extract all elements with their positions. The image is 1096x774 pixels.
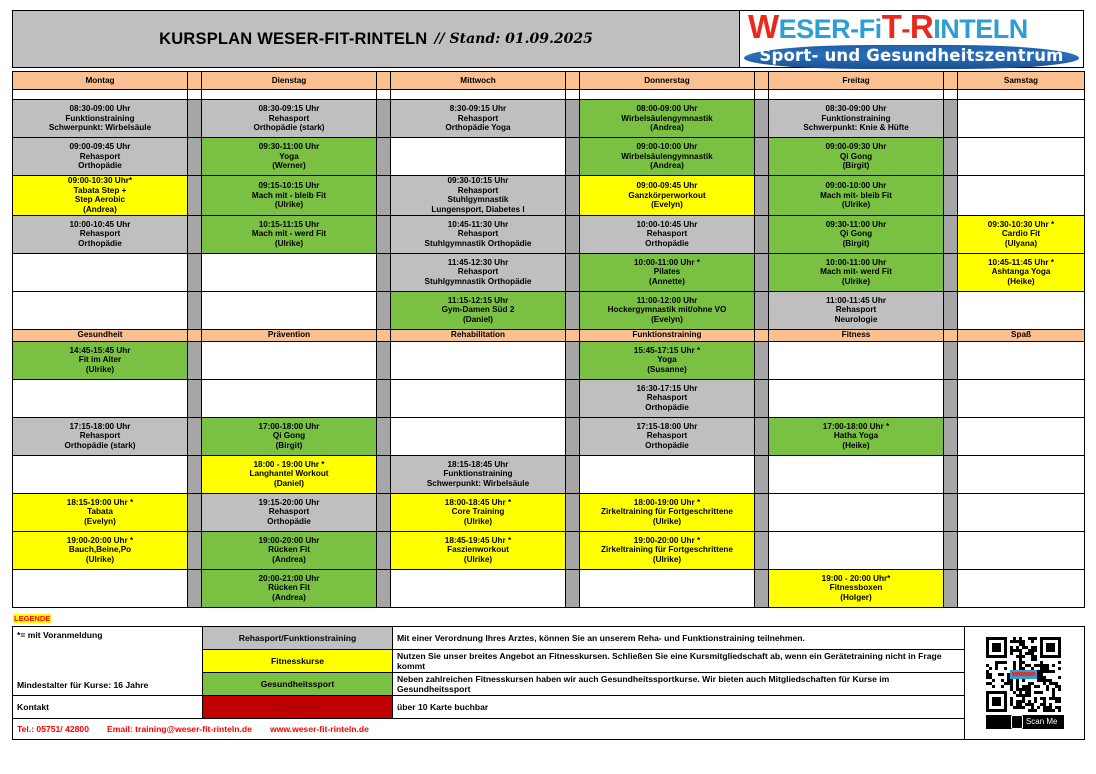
empty-cell (391, 569, 566, 607)
course-trainer: (Daniel) (391, 315, 565, 325)
course-name: Lungensport, Diabetes I (391, 205, 565, 215)
course-trainer: (Ulrike) (769, 277, 943, 287)
column-separator (944, 455, 958, 493)
course-trainer: (Evelyn) (580, 200, 754, 210)
contact-website[interactable]: www.weser-fit-rinteln.de (270, 724, 369, 734)
course-time: 09:00-10:30 Uhr* (13, 176, 187, 186)
column-separator (566, 215, 580, 253)
course-name: Qi Gong (202, 431, 376, 441)
course-cell[interactable]: 11:00-11:45 UhrRehasportNeurologie (769, 291, 944, 329)
qr-code-cell[interactable]: Scan Me (965, 626, 1085, 739)
course-trainer: (Birgit) (769, 161, 943, 171)
day-header-row: MontagDienstagMittwochDonnerstagFreitagS… (13, 72, 1085, 90)
logo-letter-w: W (748, 8, 779, 45)
course-name: Rehasport (769, 305, 943, 315)
course-cell[interactable]: 18:00-18:45 Uhr *Core Training(Ulrike) (391, 493, 566, 531)
course-time: 10:45-11:30 Uhr (391, 220, 565, 230)
course-trainer: (Susanne) (580, 365, 754, 375)
course-name: Bauch,Beine,Po (13, 545, 187, 555)
spacer-cell (769, 90, 944, 100)
course-trainer: (Heike) (769, 441, 943, 451)
logo-dash: - (901, 14, 910, 44)
course-cell[interactable]: 18:15-18:45 UhrFunktionstrainingSchwerpu… (391, 455, 566, 493)
course-cell[interactable]: 10:00-10:45 UhrRehasportOrthopädie (13, 215, 188, 253)
legend-table: *= mit VoranmeldungMindestalter für Kurs… (12, 626, 1085, 740)
column-separator (944, 329, 958, 341)
course-time: 18:00-19:00 Uhr * (580, 498, 754, 508)
schedule-row: 11:45-12:30 UhrRehasportStuhlgymnastik O… (13, 253, 1085, 291)
course-trainer: (Evelyn) (580, 315, 754, 325)
course-cell[interactable]: 11:45-12:30 UhrRehasportStuhlgymnastik O… (391, 253, 566, 291)
course-trainer: (Ulrike) (13, 555, 187, 565)
course-time: 19:15-20:00 Uhr (202, 498, 376, 508)
course-cell[interactable]: 08:30-09:15 UhrRehasportOrthopädie (star… (202, 100, 377, 138)
course-time: 20:00-21:00 Uhr (202, 574, 376, 584)
course-name: Rehasport (13, 152, 187, 162)
column-separator (566, 493, 580, 531)
course-cell[interactable]: 10:00-10:45 UhrRehasportOrthopädie (580, 215, 755, 253)
course-time: 16:30-17:15 Uhr (580, 384, 754, 394)
course-name: Pilates (580, 267, 754, 277)
empty-cell (580, 455, 755, 493)
schedule-row: 18:15-19:00 Uhr *Tabata(Evelyn)19:15-20:… (13, 493, 1085, 531)
category-label-rehabilitation: Rehabilitation (391, 329, 566, 341)
course-cell[interactable]: 8:30-09:15 UhrRehasportOrthopädie Yoga (391, 100, 566, 138)
course-cell[interactable]: 10:45-11:45 Uhr *Ashtanga Yoga(Heike) (958, 253, 1085, 291)
course-cell[interactable]: 18:00 - 19:00 Uhr *Langhantel Workout(Da… (202, 455, 377, 493)
course-name: Orthopädie (580, 441, 754, 451)
legend-swatch-red: Zusatzkurse (203, 695, 393, 718)
course-cell[interactable]: 09:15-10:15 UhrMach mit - bleib Fit(Ulri… (202, 176, 377, 216)
course-name: Tabata (13, 507, 187, 517)
course-trainer: (Heike) (958, 277, 1084, 287)
course-trainer: (Ulrike) (202, 239, 376, 249)
column-separator (566, 379, 580, 417)
schedule-row: 17:15-18:00 UhrRehasportOrthopädie (star… (13, 417, 1085, 455)
spacer-cell (202, 90, 377, 100)
schedule-row: 14:45-15:45 UhrFit im Alter(Ulrike)15:45… (13, 341, 1085, 379)
course-cell[interactable]: 17:00-18:00 UhrQi Gong(Birgit) (202, 417, 377, 455)
empty-cell (769, 379, 944, 417)
schedule-row: 19:00-20:00 Uhr *Bauch,Beine,Po(Ulrike)1… (13, 531, 1085, 569)
course-cell[interactable]: 17:00-18:00 Uhr *Hatha Yoga(Heike) (769, 417, 944, 455)
course-time: 18:15-19:00 Uhr * (13, 498, 187, 508)
course-trainer: (Ulrike) (580, 517, 754, 527)
course-name: Stuhlgymnastik Orthopädie (391, 239, 565, 249)
column-separator (944, 176, 958, 216)
column-separator (377, 100, 391, 138)
course-name: Stuhlgymnastik (391, 195, 565, 205)
course-time: 11:15-12:15 Uhr (391, 296, 565, 306)
course-name: Rücken Fit (202, 583, 376, 593)
legend-title: LEGENDE (13, 614, 51, 623)
course-cell[interactable]: 10:00-11:00 UhrMach mit- werd Fit(Ulrike… (769, 253, 944, 291)
course-cell[interactable]: 10:00-11:00 Uhr *Pilates(Annette) (580, 253, 755, 291)
course-cell[interactable]: 18:15-19:00 Uhr *Tabata(Evelyn) (13, 493, 188, 531)
course-name: Zirkeltraining für Fortgeschrittene (580, 507, 754, 517)
course-time: 8:30-09:15 Uhr (391, 104, 565, 114)
empty-cell (958, 531, 1085, 569)
course-name: Faszienworkout (391, 545, 565, 555)
day-header-mittwoch: Mittwoch (391, 72, 566, 90)
empty-cell (580, 569, 755, 607)
course-cell[interactable]: 09:30-10:15 UhrRehasportStuhlgymnastikLu… (391, 176, 566, 216)
course-time: 18:00-18:45 Uhr * (391, 498, 565, 508)
schedule-row: 11:15-12:15 UhrGym-Damen Süd 2(Daniel)11… (13, 291, 1085, 329)
contact-phone[interactable]: Tel.: 05751/ 42800 (17, 724, 89, 734)
empty-cell (13, 569, 188, 607)
course-time: 19:00-20:00 Uhr * (13, 536, 187, 546)
course-cell[interactable]: 18:45-19:45 Uhr *Faszienworkout(Ulrike) (391, 531, 566, 569)
logo-text-inteln: INTELN (933, 14, 1028, 44)
empty-cell (13, 291, 188, 329)
course-cell[interactable]: 15:45-17:15 Uhr *Yoga(Susanne) (580, 341, 755, 379)
course-cell[interactable]: 11:15-12:15 UhrGym-Damen Süd 2(Daniel) (391, 291, 566, 329)
course-cell[interactable]: 17:15-18:00 UhrRehasportOrthopädie (580, 417, 755, 455)
course-cell[interactable]: 14:45-15:45 UhrFit im Alter(Ulrike) (13, 341, 188, 379)
column-separator (566, 253, 580, 291)
course-name: Rehasport (391, 267, 565, 277)
course-time: 09:15-10:15 Uhr (202, 181, 376, 191)
course-name: Fitnessboxen (769, 583, 943, 593)
category-label-gesundheit: Gesundheit (13, 329, 188, 341)
column-separator (755, 138, 769, 176)
schedule-row: 10:00-10:45 UhrRehasportOrthopädie10:15-… (13, 215, 1085, 253)
course-cell[interactable]: 09:00-10:00 UhrMach mit- bleib Fit(Ulrik… (769, 176, 944, 216)
course-cell[interactable]: 20:00-21:00 UhrRücken Fit(Andrea) (202, 569, 377, 607)
column-separator (944, 253, 958, 291)
column-separator (944, 291, 958, 329)
course-cell[interactable]: 18:00-19:00 Uhr *Zirkeltraining für Fort… (580, 493, 755, 531)
course-time: 11:00-11:45 Uhr (769, 296, 943, 306)
column-separator (377, 253, 391, 291)
course-name: Hockergymnastik mit/ohne VO (580, 305, 754, 315)
column-separator (188, 455, 202, 493)
course-time: 18:15-18:45 Uhr (391, 460, 565, 470)
course-trainer: (Andrea) (202, 593, 376, 603)
column-separator (755, 379, 769, 417)
empty-cell (769, 493, 944, 531)
course-name: Schwerpunkt: Wirbelsäule (391, 479, 565, 489)
category-row: GesundheitPräventionRehabilitationFunkti… (13, 329, 1085, 341)
course-cell[interactable]: 08:00-09:00 UhrWirbelsäulengymnastik(And… (580, 100, 755, 138)
column-separator (755, 329, 769, 341)
page-title: KURSPLAN WESER-FIT-RINTELN (159, 30, 427, 49)
empty-cell (958, 291, 1085, 329)
column-separator (566, 569, 580, 607)
legend-notes-spacer (17, 640, 198, 680)
course-cell[interactable]: 11:00-12:00 UhrHockergymnastik mit/ohne … (580, 291, 755, 329)
course-time: 09:30-10:30 Uhr * (958, 220, 1084, 230)
course-name: Zirkeltraining für Fortgeschrittene (580, 545, 754, 555)
column-separator (377, 291, 391, 329)
legend-kontakt-label: Kontakt (13, 695, 203, 718)
column-separator (566, 455, 580, 493)
course-cell[interactable]: 17:15-18:00 UhrRehasportOrthopädie (star… (13, 417, 188, 455)
empty-cell (958, 100, 1085, 138)
course-time: 10:00-10:45 Uhr (580, 220, 754, 230)
column-separator (188, 569, 202, 607)
header-title-cell: KURSPLAN WESER-FIT-RINTELN // Stand: 01.… (13, 11, 740, 67)
column-separator (377, 455, 391, 493)
course-time: 15:45-17:15 Uhr * (580, 346, 754, 356)
legend-mindestalter-note: Mindestalter für Kurse: 16 Jahre (17, 680, 198, 690)
course-name: Ashtanga Yoga (958, 267, 1084, 277)
course-time: 09:00-10:00 Uhr (769, 181, 943, 191)
course-cell[interactable]: 09:30-11:00 UhrYoga(Werner) (202, 138, 377, 176)
column-separator (944, 215, 958, 253)
logo-letter-t: T (882, 8, 902, 45)
course-name: Wirbelsäulengymnastik (580, 114, 754, 124)
column-separator (566, 417, 580, 455)
course-time: 19:00-20:00 Uhr (202, 536, 376, 546)
course-name: Stuhlgymnastik Orthopädie (391, 277, 565, 287)
legend-title-wrap: LEGENDE (12, 608, 1084, 626)
course-name: Orthopädie (580, 403, 754, 413)
empty-cell (202, 253, 377, 291)
column-separator (188, 291, 202, 329)
course-name: Cardio Fit (958, 229, 1084, 239)
course-trainer: (Birgit) (769, 239, 943, 249)
column-separator (944, 379, 958, 417)
course-cell[interactable]: 19:00-20:00 Uhr *Bauch,Beine,Po(Ulrike) (13, 531, 188, 569)
column-separator (944, 531, 958, 569)
column-separator (188, 100, 202, 138)
course-name: Rehasport (13, 229, 187, 239)
legend-swatch-gray: Rehasport/Funktionstraining (203, 626, 393, 649)
schedule-row: 09:00-10:30 Uhr*Tabata Step +Step Aerobi… (13, 176, 1085, 216)
course-name: Orthopädie (13, 161, 187, 171)
course-time: 10:15-11:15 Uhr (202, 220, 376, 230)
course-name: Rücken Fit (202, 545, 376, 555)
course-name: Mach mit - werd Fit (202, 229, 376, 239)
course-name: Yoga (202, 152, 376, 162)
course-trainer: (Evelyn) (13, 517, 187, 527)
course-name: Orthopädie (stark) (13, 441, 187, 451)
logo-banner: Sport- und Gesundheitszentrum (744, 45, 1079, 69)
course-cell[interactable]: 19:00 - 20:00 Uhr*Fitnessboxen(Holger) (769, 569, 944, 607)
course-time: 10:45-11:45 Uhr * (958, 258, 1084, 268)
course-trainer: (Annette) (580, 277, 754, 287)
course-trainer: (Ulrike) (202, 200, 376, 210)
logo-letter-r: R (910, 8, 933, 45)
qr-code-image[interactable] (986, 637, 1064, 715)
course-name: Orthopädie (202, 517, 376, 527)
column-separator (566, 90, 580, 100)
course-name: Funktionstraining (769, 114, 943, 124)
course-time: 17:00-18:00 Uhr (202, 422, 376, 432)
course-time: 08:30-09:00 Uhr (769, 104, 943, 114)
course-time: 10:00-11:00 Uhr * (580, 258, 754, 268)
course-cell[interactable]: 10:45-11:30 UhrRehasportStuhlgymnastik O… (391, 215, 566, 253)
schedule-row: 09:00-09:45 UhrRehasportOrthopädie09:30-… (13, 138, 1085, 176)
course-name: Qi Gong (769, 152, 943, 162)
legend-description: Nutzen Sie unser breites Angebot an Fitn… (393, 649, 965, 672)
course-name: Wirbelsäulengymnastik (580, 152, 754, 162)
spacer-cell (13, 90, 188, 100)
logo-letter-i: i (875, 14, 882, 44)
company-logo: WESER-FiT-RINTELN Sport- und Gesundheits… (740, 11, 1083, 67)
legend-row: *= mit VoranmeldungMindestalter für Kurs… (13, 626, 1085, 649)
column-separator (566, 291, 580, 329)
column-separator (944, 493, 958, 531)
course-name: Rehasport (13, 431, 187, 441)
column-separator (377, 569, 391, 607)
empty-cell (202, 291, 377, 329)
spacer-cell (391, 90, 566, 100)
course-name: Orthopädie Yoga (391, 123, 565, 133)
spacer-cell (580, 90, 755, 100)
schedule-row: 16:30-17:15 UhrRehasportOrthopädie (13, 379, 1085, 417)
course-cell[interactable]: 09:30-10:30 Uhr *Cardio Fit(Ulyana) (958, 215, 1085, 253)
course-name: Orthopädie (580, 239, 754, 249)
column-separator (944, 72, 958, 90)
column-separator (377, 215, 391, 253)
day-header-donnerstag: Donnerstag (580, 72, 755, 90)
legend-description: Neben zahlreichen Fitnesskursen haben wi… (393, 672, 965, 695)
course-cell[interactable]: 09:00-09:30 UhrQi Gong(Birgit) (769, 138, 944, 176)
legend-swatch-green: Gesundheitssport (203, 672, 393, 695)
course-name: Schwerpunkt: Knie & Hüfte (769, 123, 943, 133)
course-cell[interactable]: 09:00-09:45 UhrRehasportOrthopädie (13, 138, 188, 176)
course-trainer: (Ulyana) (958, 239, 1084, 249)
logo-subtitle: Sport- und Gesundheitszentrum (759, 46, 1063, 65)
course-time: 08:00-09:00 Uhr (580, 104, 754, 114)
column-separator (377, 493, 391, 531)
column-separator (755, 493, 769, 531)
schedule-row: 08:30-09:00 UhrFunktionstrainingSchwerpu… (13, 100, 1085, 138)
course-cell[interactable]: 09:30-11:00 UhrQi Gong(Birgit) (769, 215, 944, 253)
column-separator (944, 569, 958, 607)
course-name: Schwerpunkt: Wirbelsäule (13, 123, 187, 133)
course-time: 08:30-09:15 Uhr (202, 104, 376, 114)
empty-cell (202, 379, 377, 417)
course-time: 11:45-12:30 Uhr (391, 258, 565, 268)
column-separator (566, 329, 580, 341)
course-cell[interactable]: 08:30-09:00 UhrFunktionstrainingSchwerpu… (13, 100, 188, 138)
course-time: 17:00-18:00 Uhr * (769, 422, 943, 432)
category-label-prävention: Prävention (202, 329, 377, 341)
day-header-freitag: Freitag (769, 72, 944, 90)
empty-cell (391, 379, 566, 417)
course-cell[interactable]: 09:00-10:00 UhrWirbelsäulengymnastik(And… (580, 138, 755, 176)
course-cell[interactable]: 10:15-11:15 UhrMach mit - werd Fit(Ulrik… (202, 215, 377, 253)
course-cell[interactable]: 19:00-20:00 Uhr *Zirkeltraining für Fort… (580, 531, 755, 569)
column-separator (944, 100, 958, 138)
course-cell[interactable]: 09:00-10:30 Uhr*Tabata Step +Step Aerobi… (13, 176, 188, 216)
course-trainer: (Ulrike) (13, 365, 187, 375)
empty-cell (958, 379, 1085, 417)
course-time: 10:00-10:45 Uhr (13, 220, 187, 230)
course-trainer: (Birgit) (202, 441, 376, 451)
column-separator (377, 341, 391, 379)
column-separator (755, 417, 769, 455)
column-separator (377, 379, 391, 417)
column-separator (944, 341, 958, 379)
empty-cell (769, 341, 944, 379)
course-time: 17:15-18:00 Uhr (13, 422, 187, 432)
course-name: Rehasport (580, 431, 754, 441)
course-cell[interactable]: 09:00-09:45 UhrGanzkörperworkout(Evelyn) (580, 176, 755, 216)
course-time: 09:00-09:45 Uhr (580, 181, 754, 191)
course-cell[interactable]: 19:15-20:00 UhrRehasportOrthopädie (202, 493, 377, 531)
column-separator (566, 341, 580, 379)
course-cell[interactable]: 19:00-20:00 UhrRücken Fit(Andrea) (202, 531, 377, 569)
course-name: Core Training (391, 507, 565, 517)
phone-icon (1011, 715, 1023, 729)
column-separator (566, 72, 580, 90)
logo-text-eser-f: ESER-F (779, 14, 875, 44)
course-cell[interactable]: 16:30-17:15 UhrRehasportOrthopädie (580, 379, 755, 417)
column-separator (188, 379, 202, 417)
column-separator (377, 138, 391, 176)
course-trainer: (Andrea) (580, 123, 754, 133)
course-name: Step Aerobic (13, 195, 187, 205)
empty-cell (958, 455, 1085, 493)
course-name: Fit im Alter (13, 355, 187, 365)
column-separator (944, 138, 958, 176)
column-separator (188, 341, 202, 379)
column-separator (188, 138, 202, 176)
kursplan-sheet: KURSPLAN WESER-FIT-RINTELN // Stand: 01.… (0, 0, 1096, 774)
schedule-table: MontagDienstagMittwochDonnerstagFreitagS… (12, 71, 1085, 608)
course-trainer: (Andrea) (13, 205, 187, 215)
course-name: Rehasport (391, 114, 565, 124)
column-separator (188, 176, 202, 216)
column-separator (377, 72, 391, 90)
course-time: 08:30-09:00 Uhr (13, 104, 187, 114)
page-header: KURSPLAN WESER-FIT-RINTELN // Stand: 01.… (12, 10, 1084, 68)
course-time: 09:30-11:00 Uhr (769, 220, 943, 230)
logo-wordmark: WESER-FiT-RINTELN (744, 10, 1079, 43)
course-name: Neurologie (769, 315, 943, 325)
scan-me-bar: Scan Me (986, 715, 1064, 729)
course-time: 18:00 - 19:00 Uhr * (202, 460, 376, 470)
legend-row: KontaktZusatzkurseüber 10 Karte buchbar (13, 695, 1085, 718)
course-trainer: (Ulrike) (580, 555, 754, 565)
course-time: 19:00 - 20:00 Uhr* (769, 574, 943, 584)
spacer-cell (958, 90, 1085, 100)
course-name: Mach mit- bleib Fit (769, 191, 943, 201)
course-name: Hatha Yoga (769, 431, 943, 441)
course-time: 11:00-12:00 Uhr (580, 296, 754, 306)
contact-info: Tel.: 05751/ 42800Email: training@weser-… (13, 718, 965, 739)
empty-cell (958, 569, 1085, 607)
course-trainer: (Werner) (202, 161, 376, 171)
day-header-montag: Montag (13, 72, 188, 90)
empty-cell (391, 341, 566, 379)
column-separator (188, 72, 202, 90)
course-trainer: (Andrea) (202, 555, 376, 565)
course-time: 09:30-10:15 Uhr (391, 176, 565, 186)
empty-cell (13, 379, 188, 417)
course-time: 09:30-11:00 Uhr (202, 142, 376, 152)
contact-email[interactable]: Email: training@weser-fit-rinteln.de (107, 724, 252, 734)
column-separator (755, 341, 769, 379)
course-name: Rehasport (580, 393, 754, 403)
column-separator (377, 417, 391, 455)
course-name: Ganzkörperworkout (580, 191, 754, 201)
course-name: Tabata Step + (13, 186, 187, 196)
course-cell[interactable]: 08:30-09:00 UhrFunktionstrainingSchwerpu… (769, 100, 944, 138)
course-name: Orthopädie (13, 239, 187, 249)
course-name: Funktionstraining (13, 114, 187, 124)
course-time: 14:45-15:45 Uhr (13, 346, 187, 356)
course-time: 09:00-10:00 Uhr (580, 142, 754, 152)
spacer-row (13, 90, 1085, 100)
legend-description: Mit einer Verordnung Ihres Arztes, könne… (393, 626, 965, 649)
course-time: 10:00-11:00 Uhr (769, 258, 943, 268)
